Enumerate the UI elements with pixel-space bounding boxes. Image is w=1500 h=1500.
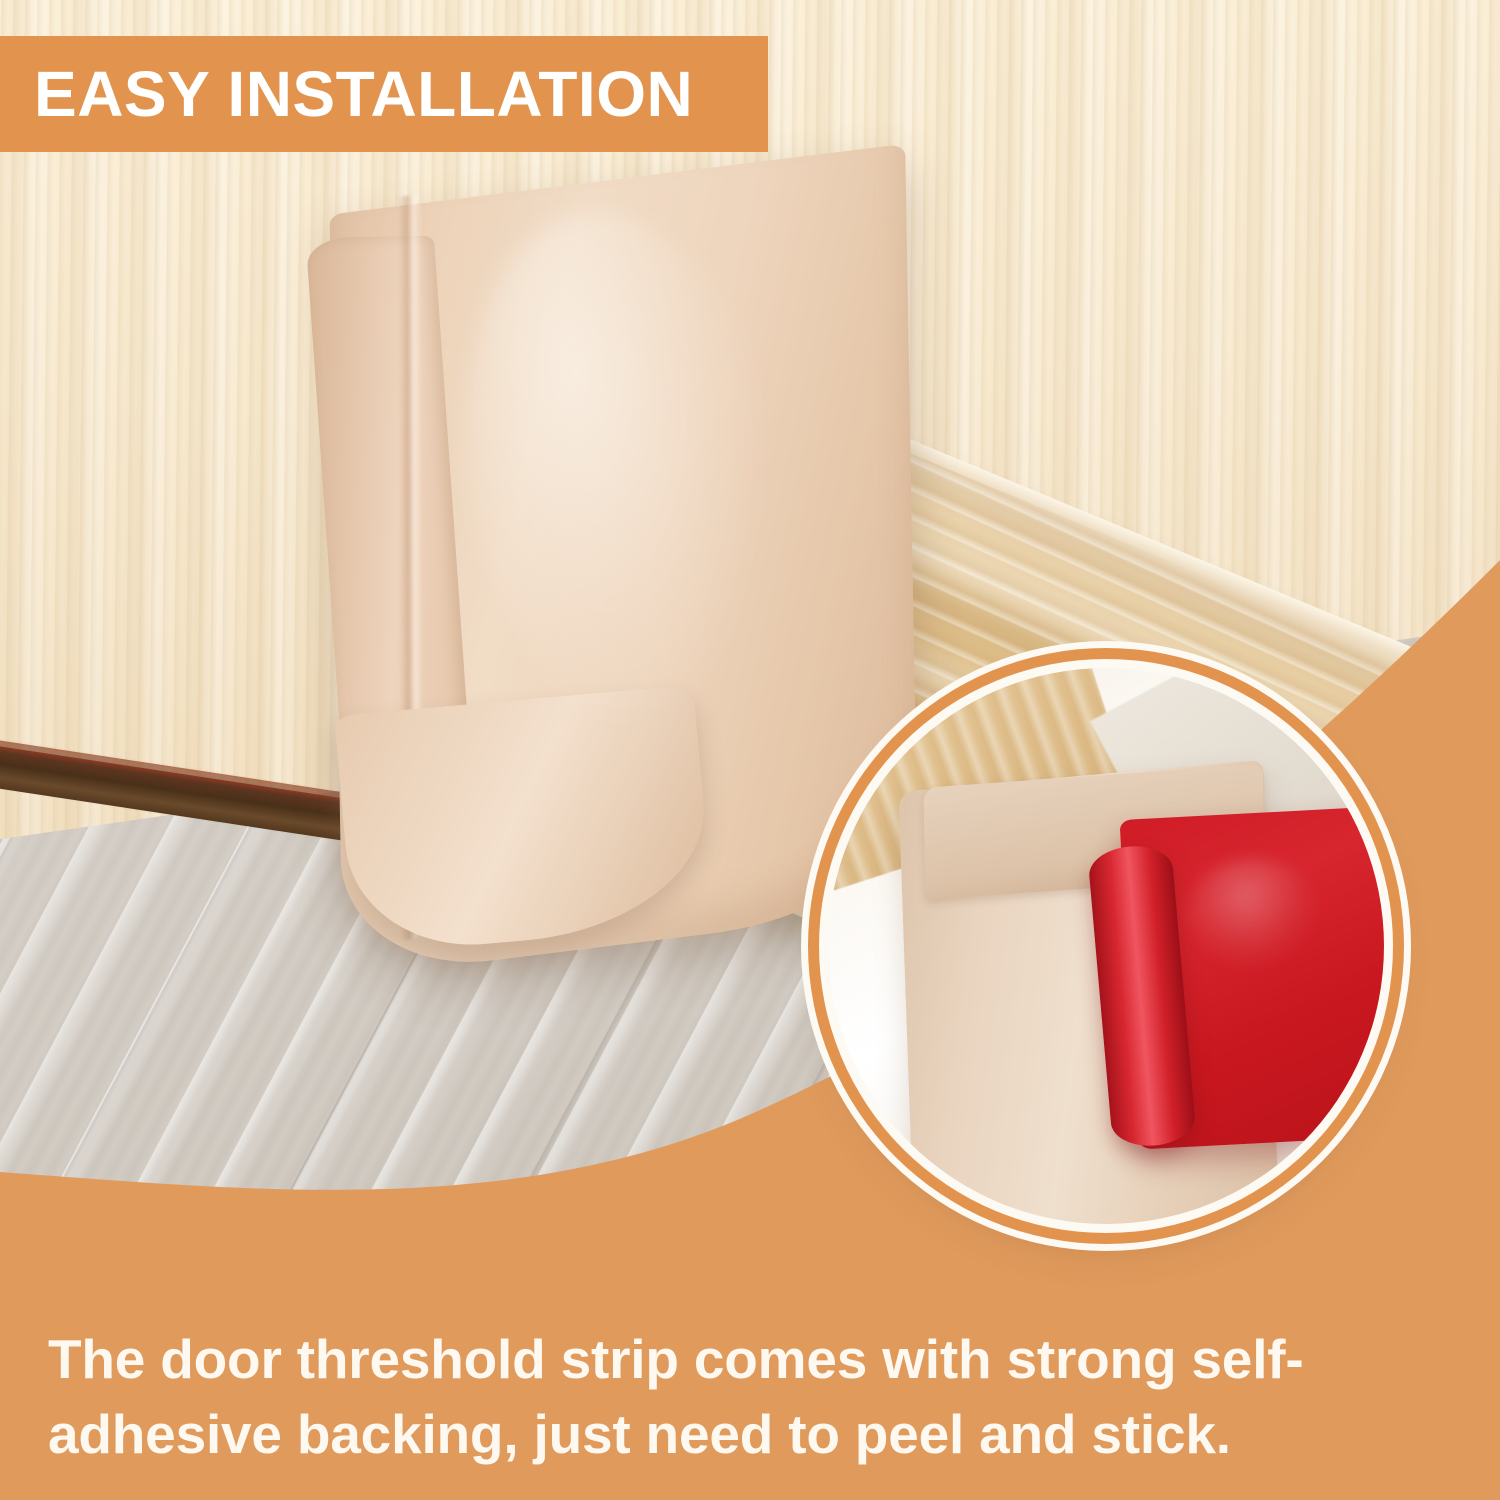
banner-title: EASY INSTALLATION [0, 62, 693, 126]
adhesive-liner-gloss [1188, 858, 1318, 968]
caption-text: The door threshold strip comes with stro… [48, 1322, 1458, 1472]
caption-block: The door threshold strip comes with stro… [48, 1322, 1458, 1472]
product-poster: EASY INSTALLATION The door threshold str… [0, 0, 1500, 1500]
header-banner: EASY INSTALLATION [0, 36, 768, 152]
inset-callout-circle [828, 668, 1384, 1224]
